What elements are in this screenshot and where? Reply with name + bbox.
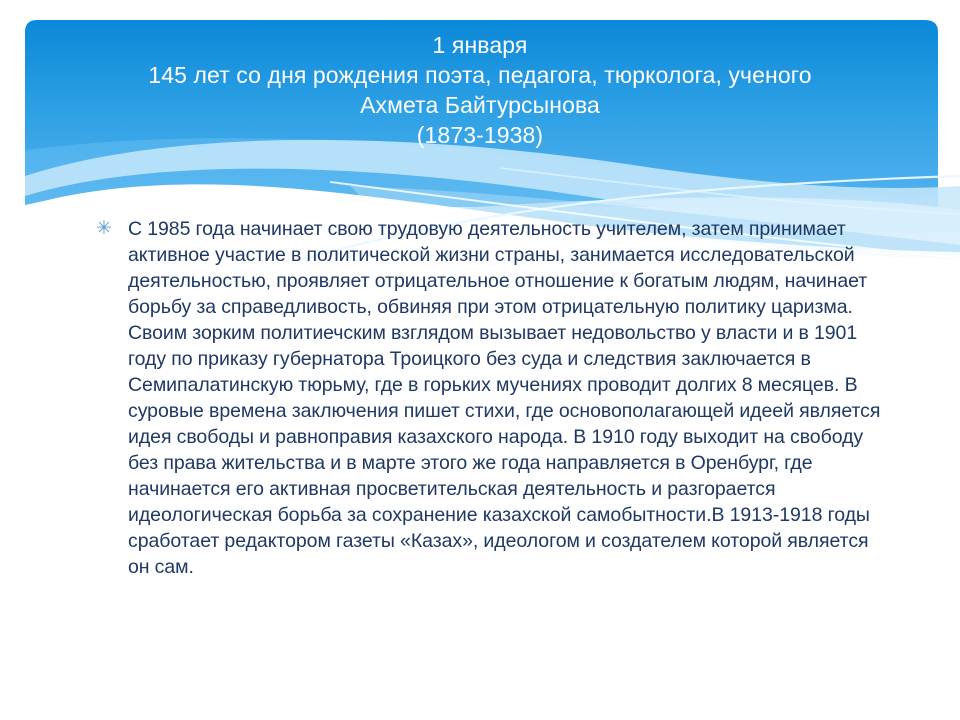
presentation-slide: 1 января 145 лет со дня рождения поэта, … (0, 0, 960, 720)
asterisk-bullet-icon: ✳ (92, 216, 128, 242)
body-paragraph: С 1985 года начинает свою трудовую деяте… (128, 216, 882, 580)
slide-body: ✳ С 1985 года начинает свою трудовую дея… (92, 216, 882, 580)
